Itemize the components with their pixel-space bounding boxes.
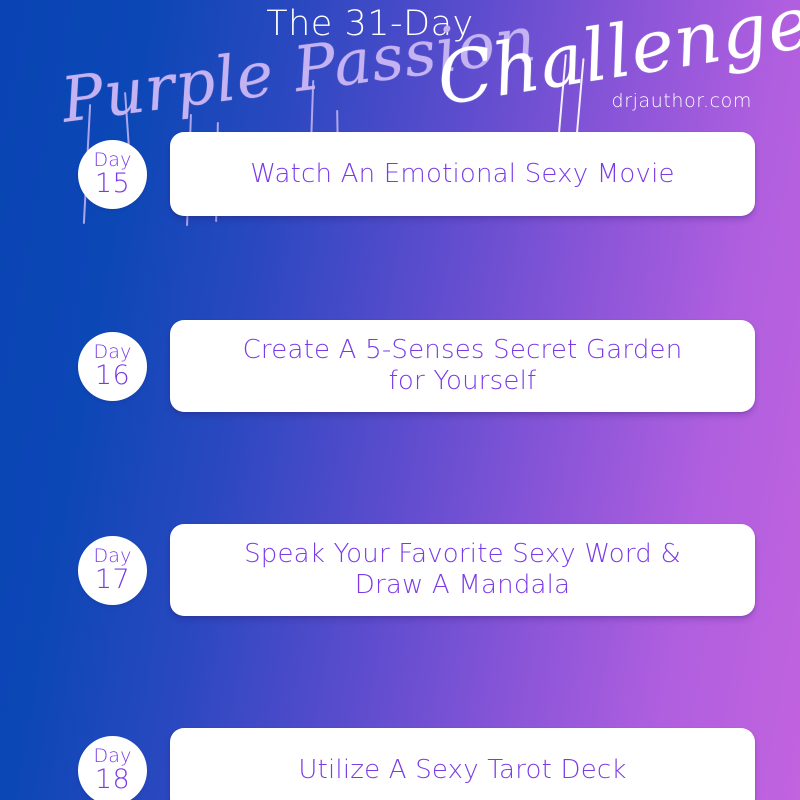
day-badge-number: 15 (95, 170, 130, 197)
list-item[interactable]: Create A 5-Senses Secret Garden for Your… (0, 226, 800, 328)
poster-header: The 31-Day Purple Passion Challenge drja… (0, 0, 800, 140)
poster-canvas: The 31-Day Purple Passion Challenge drja… (0, 0, 800, 800)
challenge-list: Watch An Emotional Sexy MovieDay15Create… (0, 132, 800, 800)
day-badge-label: Day (93, 151, 131, 170)
day-badge[interactable]: Day15 (78, 140, 147, 209)
list-item[interactable]: Self-Love: New Place or New ToyDay20 (0, 618, 800, 720)
task-card[interactable]: Watch An Emotional Sexy Movie (170, 132, 755, 216)
list-item[interactable]: Practice a S.e.x.ual AffirmationDay19 (0, 524, 800, 618)
list-item[interactable]: Watch An Emotional Sexy MovieDay15 (0, 132, 800, 226)
task-text: Watch An Emotional Sexy Movie (234, 159, 690, 190)
list-item[interactable]: Utilize A Sexy Tarot DeckDay18 (0, 430, 800, 524)
list-item[interactable]: Cook Yourself a Sensual Meal Wearing Onl… (0, 720, 800, 800)
list-item[interactable]: Speak Your Favorite Sexy Word & Draw A M… (0, 328, 800, 430)
website-url: drjauthor.com (612, 90, 752, 112)
